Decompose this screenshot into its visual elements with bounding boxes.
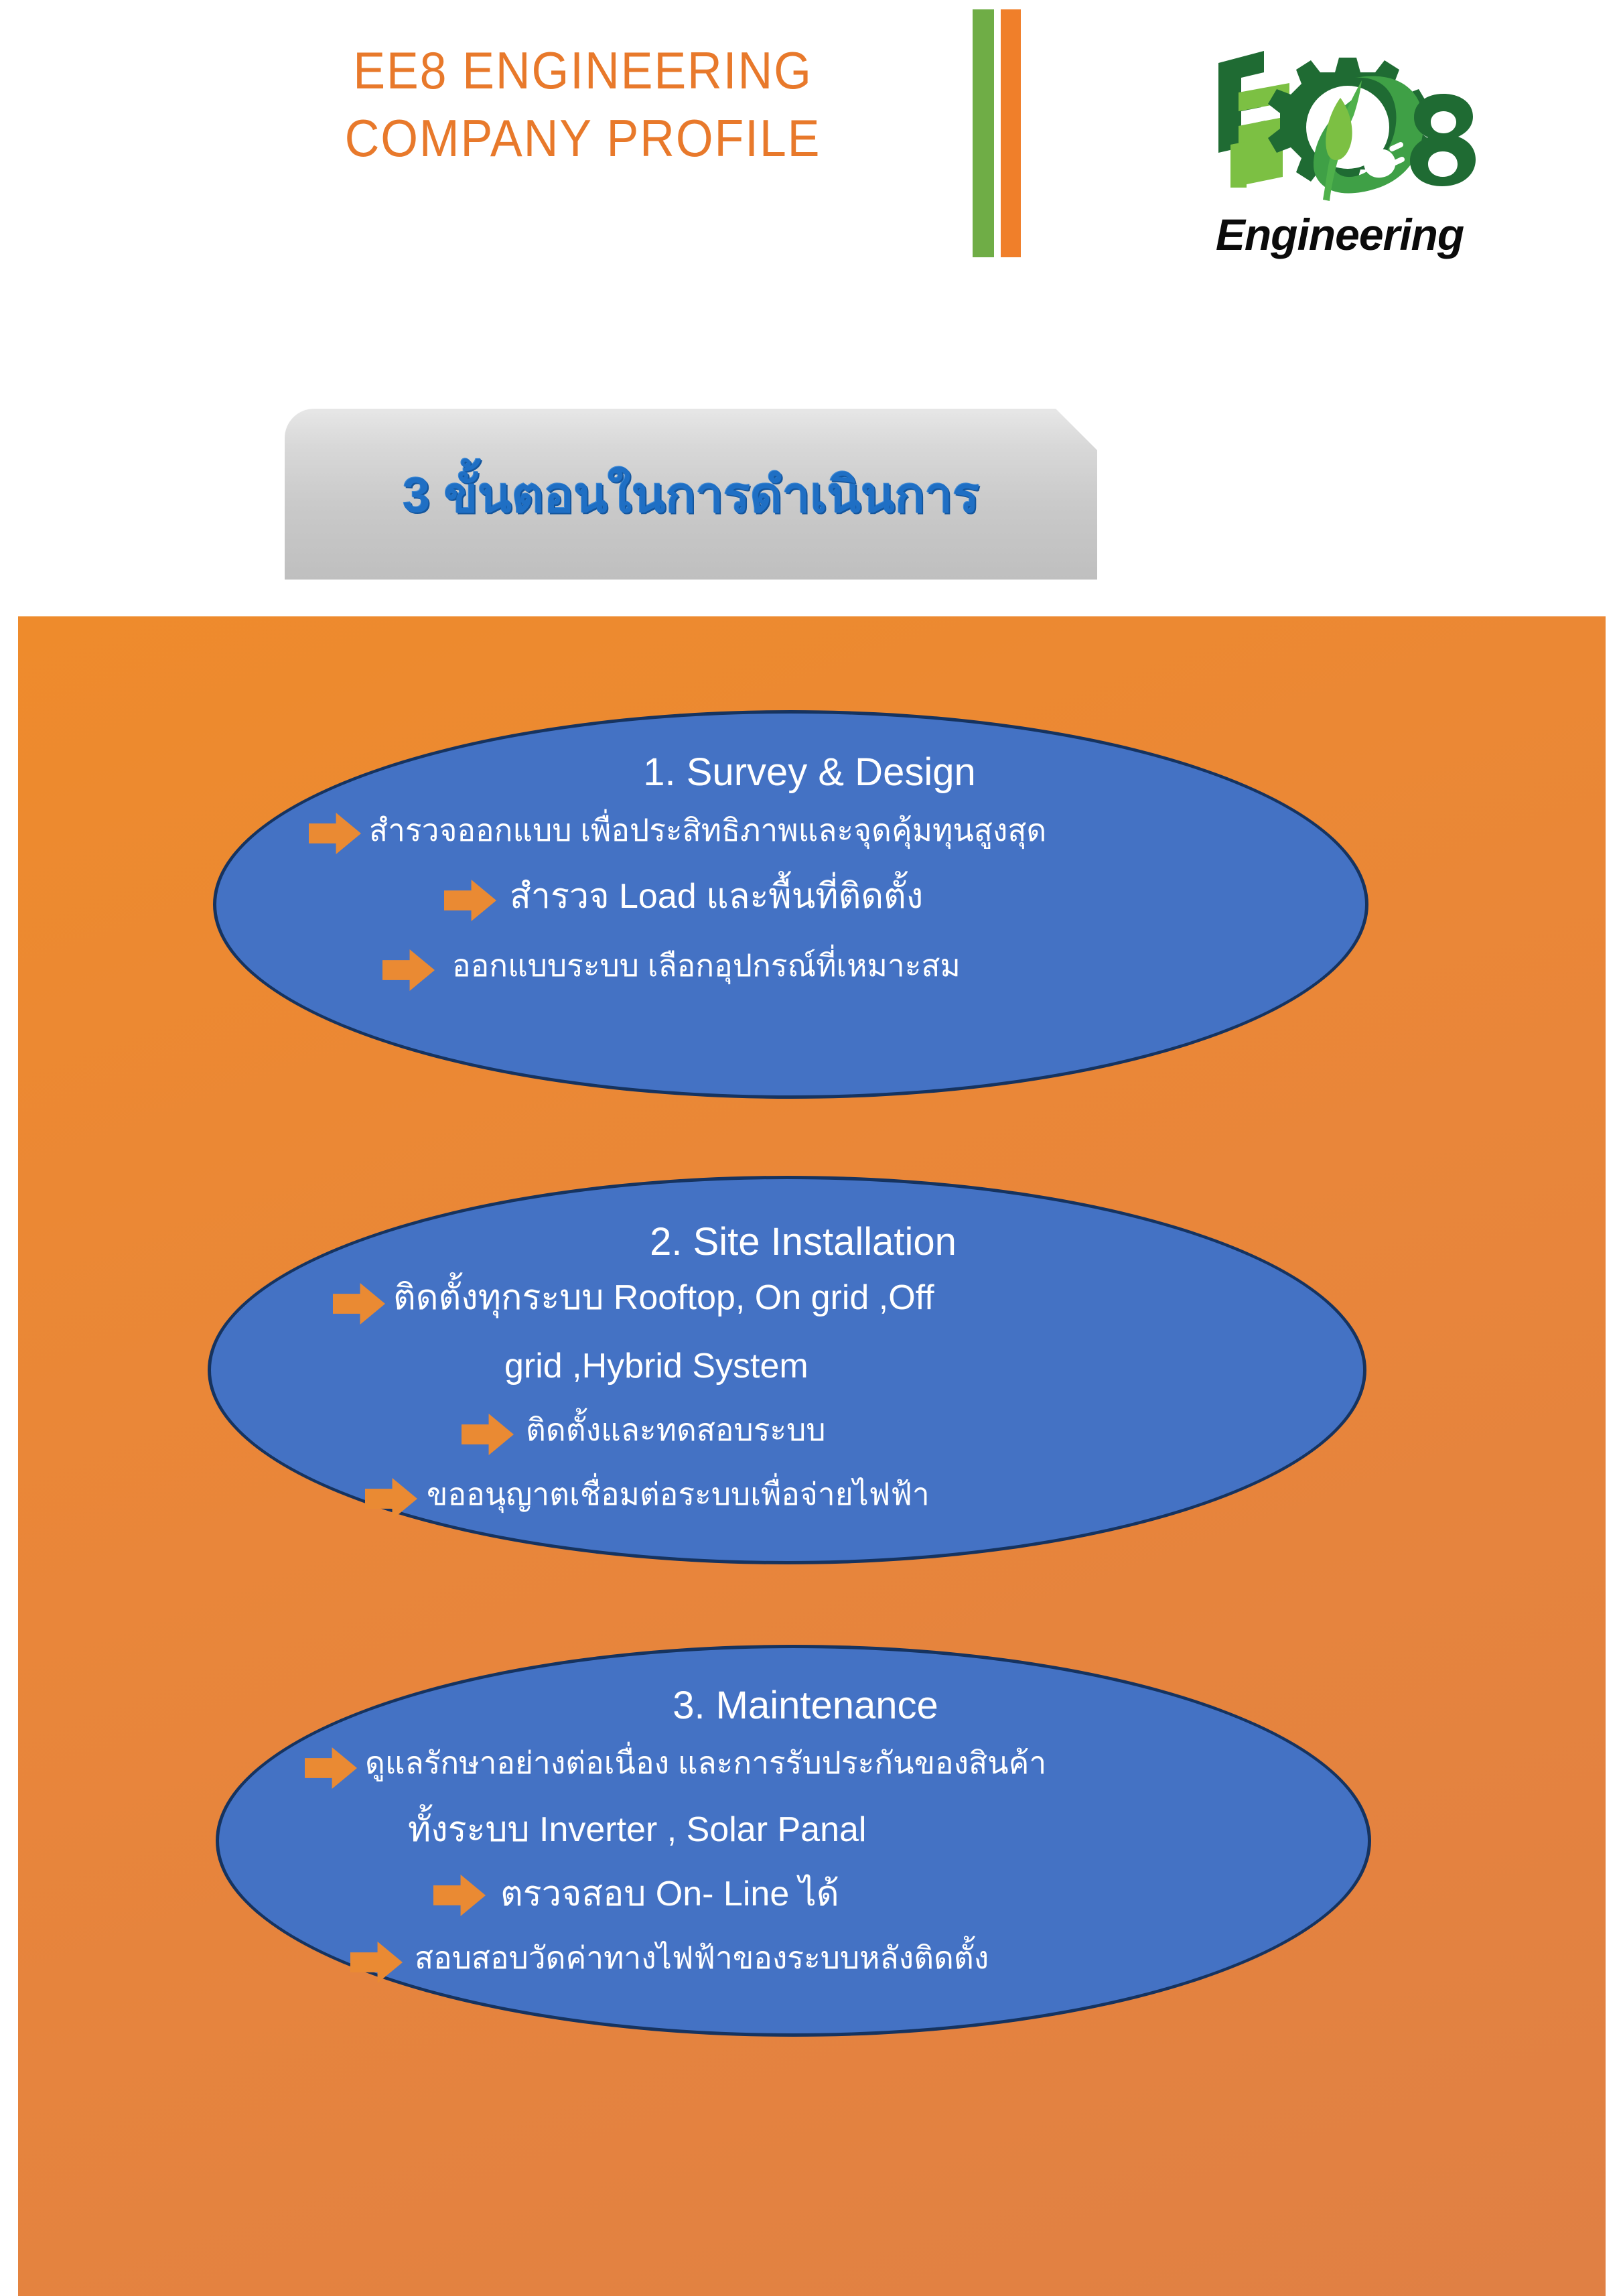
arrow-icon-2-1 [333, 1283, 385, 1325]
step-1-bullet-1: สำรวจออกแบบ เพื่อประสิทธิภาพและจุดคุ้มทุ… [369, 813, 1046, 848]
company-logo: Engineering [1189, 13, 1490, 275]
step-1-heading: 1. Survey & Design [235, 750, 1384, 795]
logo-mark-icon [1189, 13, 1490, 221]
arrow-icon-3-1 [305, 1747, 357, 1789]
step-2-bullet-1: ติดตั้งทุกระบบ Rooftop, On grid ,Off [393, 1278, 934, 1319]
accent-bar-green [973, 9, 994, 257]
section-title-text: 3 ขั้นตอนในการดำเนินการ [285, 409, 1097, 580]
arrow-icon-2-2 [462, 1414, 514, 1455]
arrow-icon-3-2 [433, 1875, 486, 1916]
page-header: EE8 ENGINEERING COMPANY PROFILE [0, 0, 1623, 268]
step-1-bullet-2: สำรวจ Load และพื้นที่ติดตั้ง [510, 877, 923, 917]
step-1-bullet-3: ออกแบบระบบ เลือกอุปกรณ์ที่เหมาะสม [452, 948, 961, 984]
step-3-heading: 3. Maintenance [231, 1683, 1380, 1728]
step-3-bullet-1: ดูแลรักษาอย่างต่อเนื่อง และการรับประกันข… [365, 1745, 1046, 1781]
step-2-bullet-4: ขออนุญาตเชื่อมต่อระบบเพื่อจ่ายไฟฟ้า [427, 1477, 930, 1512]
page-title: EE8 ENGINEERING COMPANY PROFILE [250, 37, 916, 173]
step-2-bullet-2: grid ,Hybrid System [504, 1347, 808, 1387]
page-title-line-2: COMPANY PROFILE [250, 105, 916, 172]
step-1-content: 1. Survey & Design สำรวจออกแบบ เพื่อประส… [216, 714, 1365, 1095]
step-3-bullet-4: สอบสอบวัดค่าทางไฟฟ้าของระบบหลังติดตั้ง [415, 1940, 989, 1976]
accent-bar-orange [1001, 9, 1021, 257]
step-ellipse-2: 2. Site Installation ติดตั้งทุกระบบ Roof… [208, 1176, 1366, 1564]
header-accent-bars [973, 9, 1021, 257]
step-2-content: 2. Site Installation ติดตั้งทุกระบบ Roof… [211, 1179, 1363, 1561]
page-title-line-1: EE8 ENGINEERING [250, 37, 916, 105]
arrow-icon-1-2 [444, 880, 496, 921]
step-3-bullet-2: ทั้งระบบ Inverter , Solar Panal [408, 1810, 866, 1850]
step-3-bullet-3: ตรวจสอบ On- Line ได้ [500, 1875, 839, 1915]
arrow-icon-1-1 [309, 813, 361, 854]
step-2-bullet-3: ติดตั้งและทดสอบระบบ [526, 1412, 826, 1448]
step-ellipse-1: 1. Survey & Design สำรวจออกแบบ เพื่อประส… [213, 710, 1368, 1099]
step-2-heading: 2. Site Installation [227, 1219, 1379, 1264]
step-ellipse-3: 3. Maintenance ดูแลรักษาอย่างต่อเนื่อง แ… [216, 1645, 1371, 2037]
step-3-content: 3. Maintenance ดูแลรักษาอย่างต่อเนื่อง แ… [219, 1648, 1368, 2033]
arrow-icon-1-3 [382, 949, 435, 991]
arrow-icon-2-3 [365, 1478, 417, 1520]
arrow-icon-3-3 [350, 1942, 403, 1983]
logo-wordmark: Engineering [1189, 209, 1490, 260]
section-title-banner: 3 ขั้นตอนในการดำเนินการ [285, 409, 1097, 580]
